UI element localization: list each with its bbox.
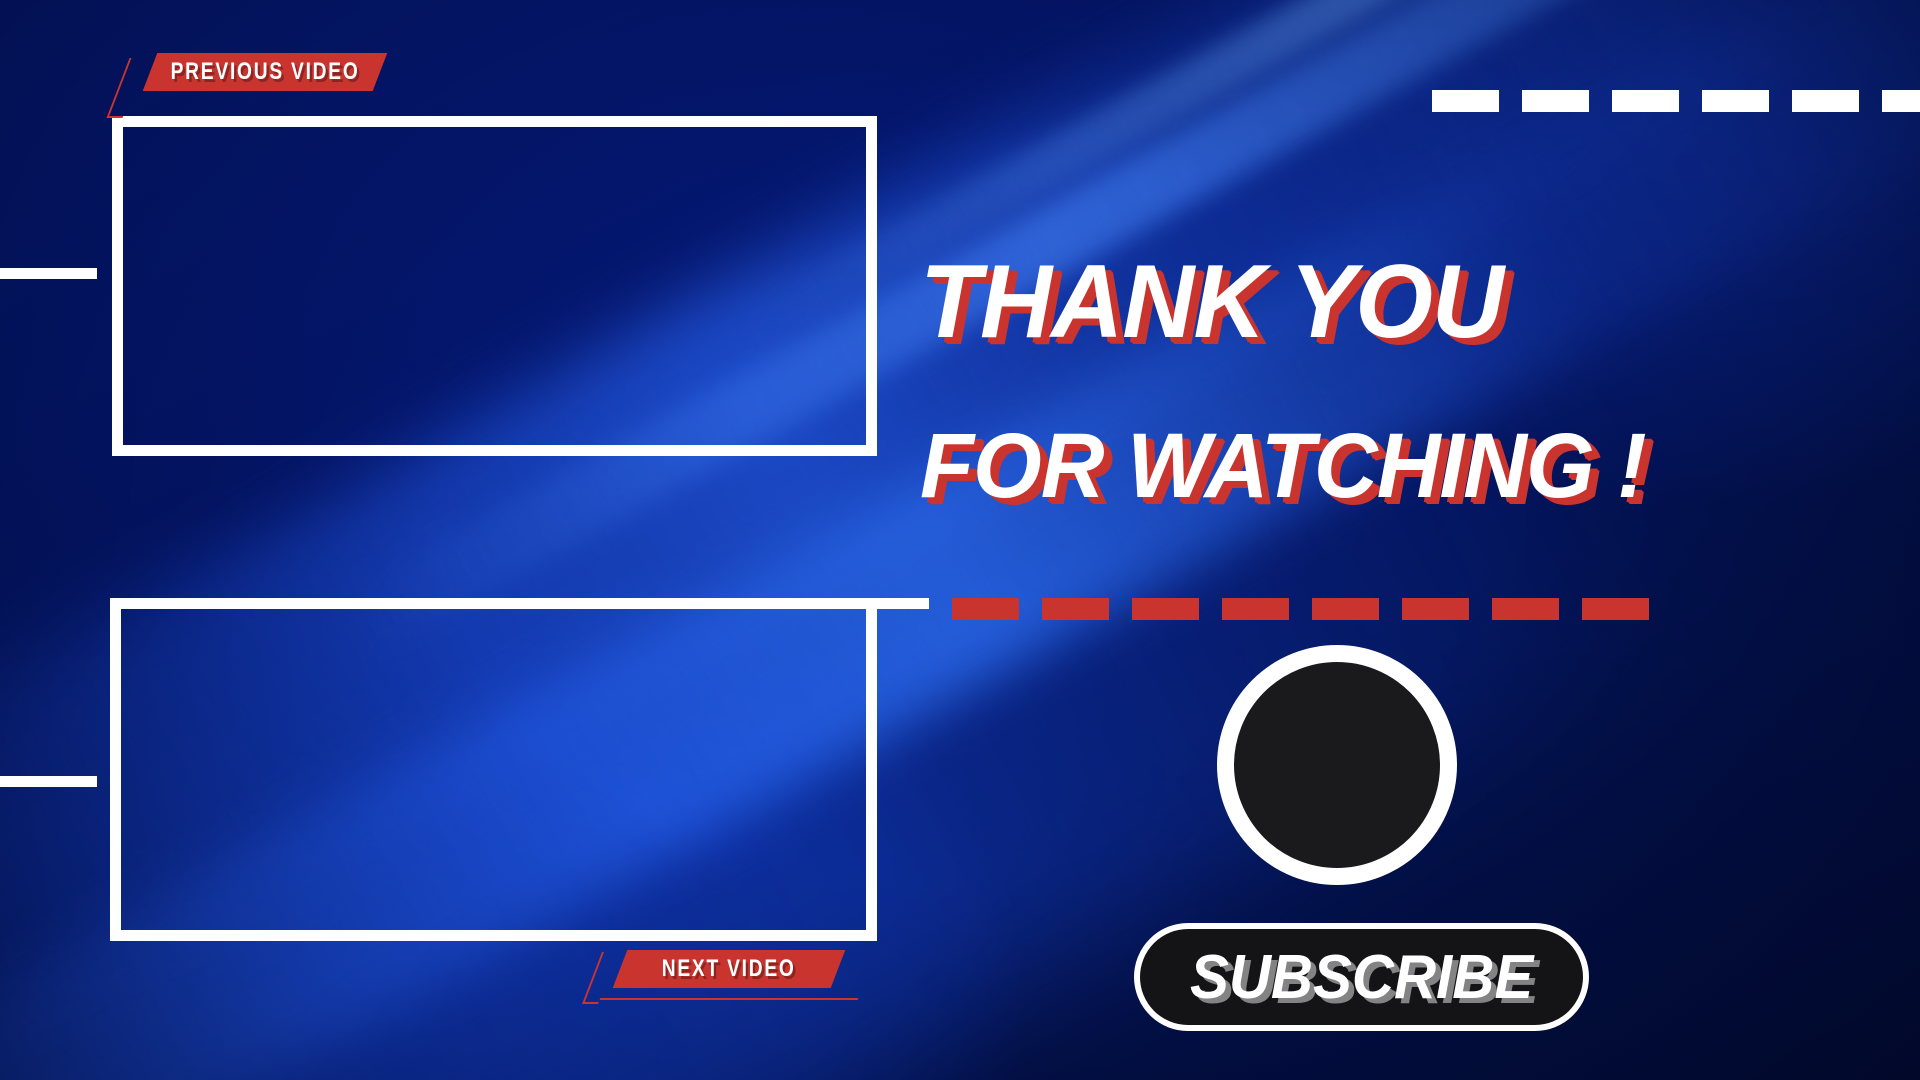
mid-dash [1312, 598, 1379, 620]
mid-dash [1402, 598, 1469, 620]
mid-dash [1132, 598, 1199, 620]
mid-dash [1582, 598, 1649, 620]
subscribe-button[interactable]: SUBSCRIBE [1134, 923, 1589, 1031]
next-video-banner[interactable]: NEXT VIDEO [613, 950, 846, 988]
subscribe-button-label: SUBSCRIBE [1190, 942, 1533, 1013]
headline-block: THANK YOU FOR WATCHING ! [920, 250, 1840, 512]
top-dash [1702, 90, 1769, 112]
top-dash [1432, 90, 1499, 112]
end-screen-canvas: PREVIOUS VIDEO NEXT VIDEO THANK YOU FOR … [0, 0, 1920, 1080]
next-video-banner-underline [600, 998, 859, 1000]
previous-video-connector-line [0, 268, 97, 279]
next-video-connector-line [0, 776, 97, 787]
next-video-banner-label: NEXT VIDEO [662, 955, 796, 983]
next-video-frame[interactable] [110, 598, 877, 941]
top-dash [1882, 90, 1920, 112]
top-dash [1792, 90, 1859, 112]
mid-dash [1222, 598, 1289, 620]
top-dash [1612, 90, 1679, 112]
headline-line-1: THANK YOU [920, 250, 1803, 354]
middle-dashed-rule [952, 598, 1649, 620]
headline-line-2: FOR WATCHING ! [920, 420, 1803, 512]
channel-avatar[interactable] [1217, 645, 1457, 885]
mid-dash [1042, 598, 1109, 620]
mid-dash [952, 598, 1019, 620]
top-dashed-rule [1432, 90, 1920, 112]
next-video-top-extension-line [877, 598, 929, 609]
previous-video-frame[interactable] [112, 116, 877, 456]
top-dash [1522, 90, 1589, 112]
mid-dash [1492, 598, 1559, 620]
previous-video-banner[interactable]: PREVIOUS VIDEO [143, 53, 388, 91]
previous-video-banner-label: PREVIOUS VIDEO [171, 58, 360, 86]
